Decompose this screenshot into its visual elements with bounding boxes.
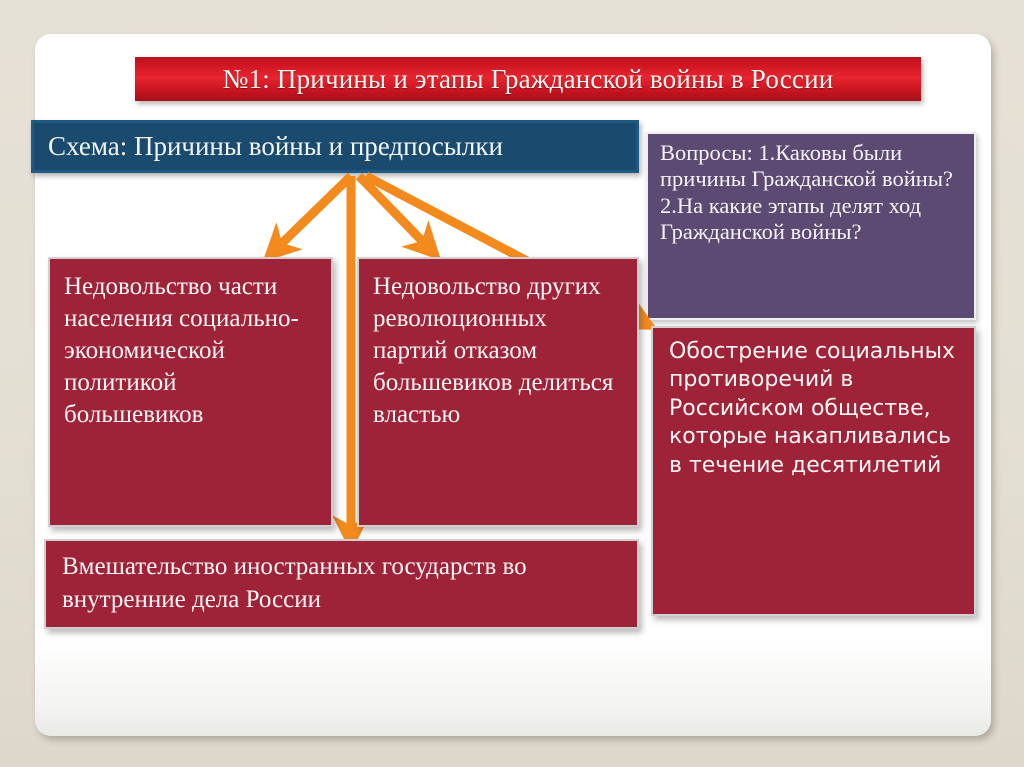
cause-box-text: Недовольство других революционных партий… (373, 273, 613, 428)
slide-title-banner: №1: Причины и этапы Гражданской войны в … (135, 57, 921, 101)
cause-box-text: Обострение социальных противоречий в Рос… (669, 339, 955, 478)
slide-canvas: №1: Причины и этапы Гражданской войны в … (0, 0, 1024, 767)
cause-box-text: Вмешательство иностранных государств во … (62, 553, 527, 613)
cause-box-text: Недовольство части населения социально-э… (64, 273, 299, 428)
questions-box: Вопросы: 1.Каковы были причины Гражданск… (646, 132, 976, 320)
page-title: №1: Причины и этапы Гражданской войны в … (223, 64, 834, 95)
cause-box-population-discontent: Недовольство части населения социально-э… (48, 257, 333, 527)
scheme-header-label: Схема: Причины войны и предпосылки (48, 131, 503, 162)
cause-box-social-contradictions: Обострение социальных противоречий в Рос… (651, 326, 976, 616)
scheme-header-box: Схема: Причины войны и предпосылки (31, 120, 639, 173)
questions-text: Вопросы: 1.Каковы были причины Гражданск… (660, 140, 964, 245)
cause-box-party-discontent: Недовольство других революционных партий… (357, 257, 639, 527)
cause-box-foreign-intervention: Вмешательство иностранных государств во … (44, 539, 639, 629)
